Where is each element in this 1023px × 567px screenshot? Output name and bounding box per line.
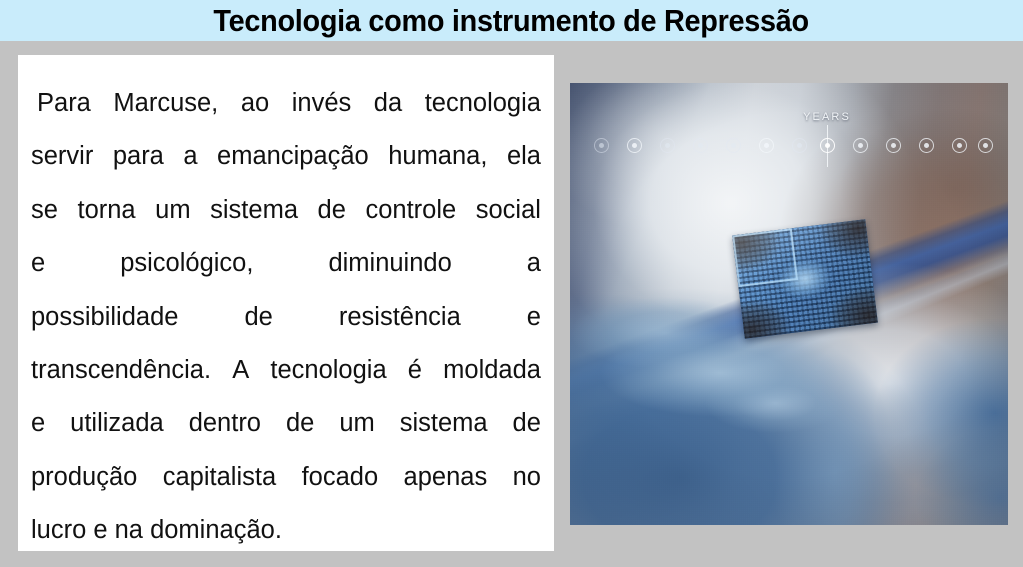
paragraph-line: servirparaaemancipaçãohumana,ela — [31, 130, 541, 183]
page-title: Tecnologia como instrumento de Repressão — [214, 5, 809, 36]
slide-canvas: Tecnologia como instrumento de Repressão… — [0, 0, 1023, 567]
body-paragraph: ParaMarcuse,aoinvésdatecnologiaservirpar… — [31, 77, 541, 551]
paragraph-line: produçãocapitalistafocadoapenasno — [31, 451, 541, 504]
paragraph-line: epsicológico,diminuindoa — [31, 237, 541, 290]
photo-vignette-layer — [570, 83, 1008, 525]
content-text-card: ParaMarcuse,aoinvésdatecnologiaservirpar… — [18, 55, 554, 551]
paragraph-line: eutilizadadentrodeumsistemade — [31, 397, 541, 450]
paragraph-line: setornaumsistemadecontrolesocial — [31, 184, 541, 237]
paragraph-line: transcendência.Atecnologiaémoldada — [31, 344, 541, 397]
paragraph-line: ParaMarcuse,aoinvésdatecnologia — [31, 77, 541, 130]
slide-title-bar: Tecnologia como instrumento de Repressão — [0, 0, 1023, 41]
technology-photo: YEARS — [570, 83, 1008, 525]
paragraph-line: possibilidadederesistênciae — [31, 291, 541, 344]
paragraph-line: lucro e na dominação. — [31, 504, 541, 551]
